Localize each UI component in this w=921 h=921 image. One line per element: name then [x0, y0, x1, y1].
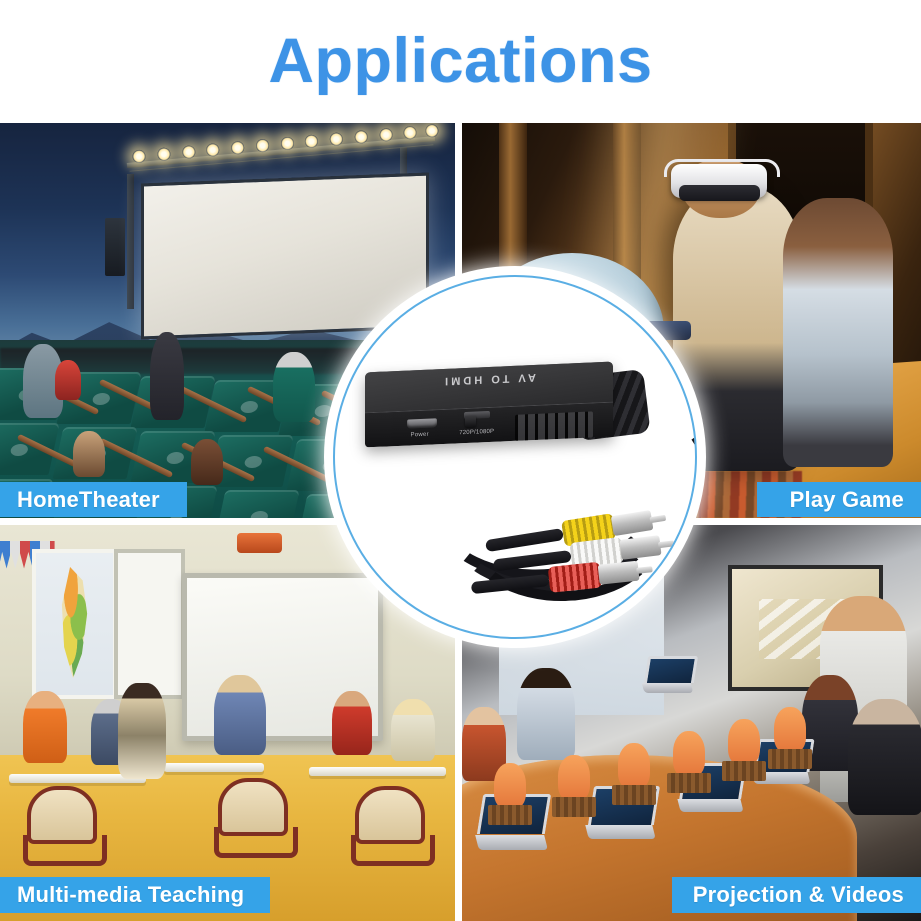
product-callout-circle: AV TO HDMI Power 720P/1080P [333, 275, 697, 639]
micro-usb-power-port [407, 418, 437, 428]
title-band: Applications [0, 0, 921, 123]
badge-label: Projection & Videos [693, 882, 904, 908]
rca-barrel [598, 561, 640, 585]
device-top-label: AV TO HDMI [365, 368, 613, 391]
power-port-label: Power [400, 431, 440, 439]
av-to-hdmi-converter: AV TO HDMI Power 720P/1080P [335, 277, 695, 637]
badge-projection-videos: Projection & Videos [672, 877, 921, 913]
side-whiteboard [114, 549, 186, 700]
table-decoration [673, 731, 705, 777]
badge-label: Multi-media Teaching [17, 882, 244, 908]
student [23, 691, 67, 763]
table-decoration [774, 707, 806, 753]
table-decoration [558, 755, 590, 801]
badge-label: Play Game [790, 487, 904, 513]
student [214, 675, 266, 755]
student [391, 699, 435, 761]
applications-infographic: Applications [0, 0, 921, 921]
classroom-chair [218, 778, 288, 836]
vr-headset-icon [671, 164, 767, 198]
student-desk [164, 763, 264, 772]
badge-play-game: Play Game [757, 482, 921, 517]
badge-home-theater: HomeTheater [0, 482, 187, 517]
classroom-chair [27, 786, 97, 844]
audience-member [55, 360, 81, 400]
audience-member [191, 439, 223, 485]
table-decoration [494, 763, 526, 809]
audience-member [73, 431, 105, 477]
student [332, 691, 372, 755]
attendee [517, 668, 575, 760]
teacher [118, 683, 166, 779]
student-desk [309, 767, 446, 776]
audience-member [273, 352, 315, 422]
ceiling-projector [237, 533, 283, 553]
resolution-switch[interactable] [465, 415, 476, 426]
laptop [646, 656, 690, 690]
rca-grip [548, 562, 602, 593]
badge-label: HomeTheater [17, 487, 160, 513]
attendee [848, 699, 921, 815]
seated-companion [783, 198, 893, 467]
wall-map [32, 549, 117, 700]
table-decoration [728, 719, 760, 765]
audience-member [150, 332, 184, 420]
badge-multimedia-teaching: Multi-media Teaching [0, 877, 270, 913]
table-decoration [618, 743, 650, 789]
page-title: Applications [268, 30, 652, 93]
classroom-chair [355, 786, 425, 844]
